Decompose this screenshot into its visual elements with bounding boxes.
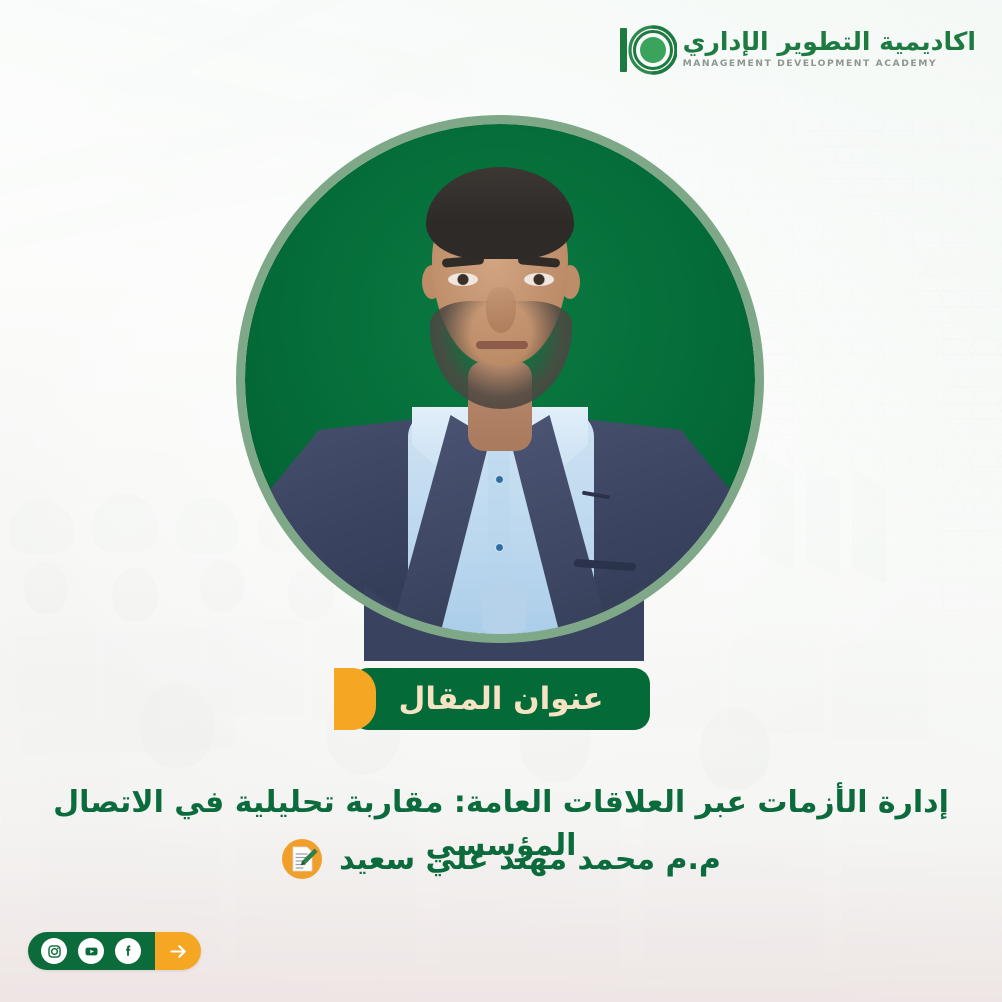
logo-text-block: اكاديمية التطوير الإداري MANAGEMENT DEVE…: [683, 29, 976, 70]
article-title-badge: عنوان المقال: [352, 668, 649, 730]
badge-label: عنوان المقال: [398, 684, 603, 715]
instagram-icon[interactable]: [41, 938, 67, 964]
portrait-circle: [236, 115, 764, 643]
author-row: م.م محمد مهند علي سعيد: [0, 838, 1002, 880]
social-icons-group: [28, 932, 155, 970]
logo-arabic-name: اكاديمية التطوير الإداري: [683, 29, 976, 54]
arrow-right-icon[interactable]: [155, 932, 201, 970]
concentric-circle-logo-mark: [619, 24, 677, 76]
memo-icon: [281, 838, 323, 880]
portrait-green-backdrop: [245, 124, 755, 634]
author-name: م.م محمد مهند علي سعيد: [339, 842, 721, 877]
youtube-icon[interactable]: [78, 938, 104, 964]
badge-orange-accent: [334, 668, 376, 730]
social-media-article-card: اكاديمية التطوير الإداري MANAGEMENT DEVE…: [0, 0, 1002, 1002]
academy-logo[interactable]: اكاديمية التطوير الإداري MANAGEMENT DEVE…: [619, 24, 976, 76]
social-links-bar[interactable]: [28, 932, 201, 970]
logo-english-name: MANAGEMENT DEVELOPMENT ACADEMY: [683, 59, 938, 68]
article-title-badge-row: عنوان المقال: [0, 668, 1002, 730]
facebook-icon[interactable]: [115, 938, 141, 964]
